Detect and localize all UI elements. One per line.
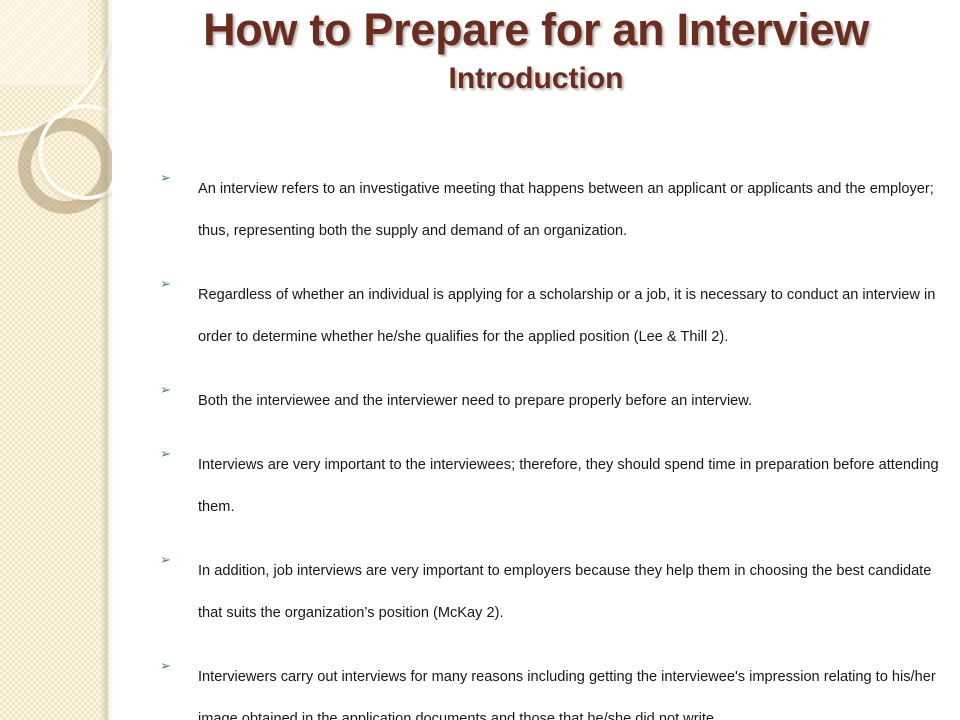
list-item-text: Regardless of whether an individual is a…: [198, 287, 939, 345]
slide-title: How to Prepare for an Interview: [112, 4, 960, 56]
list-item: ➢ In addition, job interviews are very i…: [160, 550, 950, 634]
list-item-text: Both the interviewee and the interviewer…: [198, 393, 752, 409]
slide-subtitle: Introduction: [112, 62, 960, 95]
arrow-bullet-icon: ➢: [160, 551, 176, 569]
decorative-sidebar: [0, 0, 112, 720]
list-item: ➢ Interviewers carry out interviews for …: [160, 656, 950, 720]
list-item-text: An interview refers to an investigative …: [198, 181, 938, 239]
list-item: ➢ An interview refers to an investigativ…: [160, 168, 950, 252]
list-item-text: Interviews are very important to the int…: [198, 457, 943, 515]
title-block: How to Prepare for an Interview Introduc…: [112, 4, 960, 95]
presentation-slide: How to Prepare for an Interview Introduc…: [0, 0, 960, 720]
sidebar-edge-shadow: [100, 0, 112, 720]
arrow-bullet-icon: ➢: [160, 657, 176, 675]
list-item-text: In addition, job interviews are very imp…: [198, 563, 935, 621]
list-item-text: Interviewers carry out interviews for ma…: [198, 669, 940, 720]
arrow-bullet-icon: ➢: [160, 381, 176, 399]
arrow-bullet-icon: ➢: [160, 169, 176, 187]
arrow-bullet-icon: ➢: [160, 275, 176, 293]
list-item: ➢ Regardless of whether an individual is…: [160, 274, 950, 358]
list-item: ➢ Interviews are very important to the i…: [160, 444, 950, 528]
arrow-bullet-icon: ➢: [160, 445, 176, 463]
bullet-list: ➢ An interview refers to an investigativ…: [160, 168, 950, 720]
list-item: ➢ Both the interviewee and the interview…: [160, 380, 950, 422]
